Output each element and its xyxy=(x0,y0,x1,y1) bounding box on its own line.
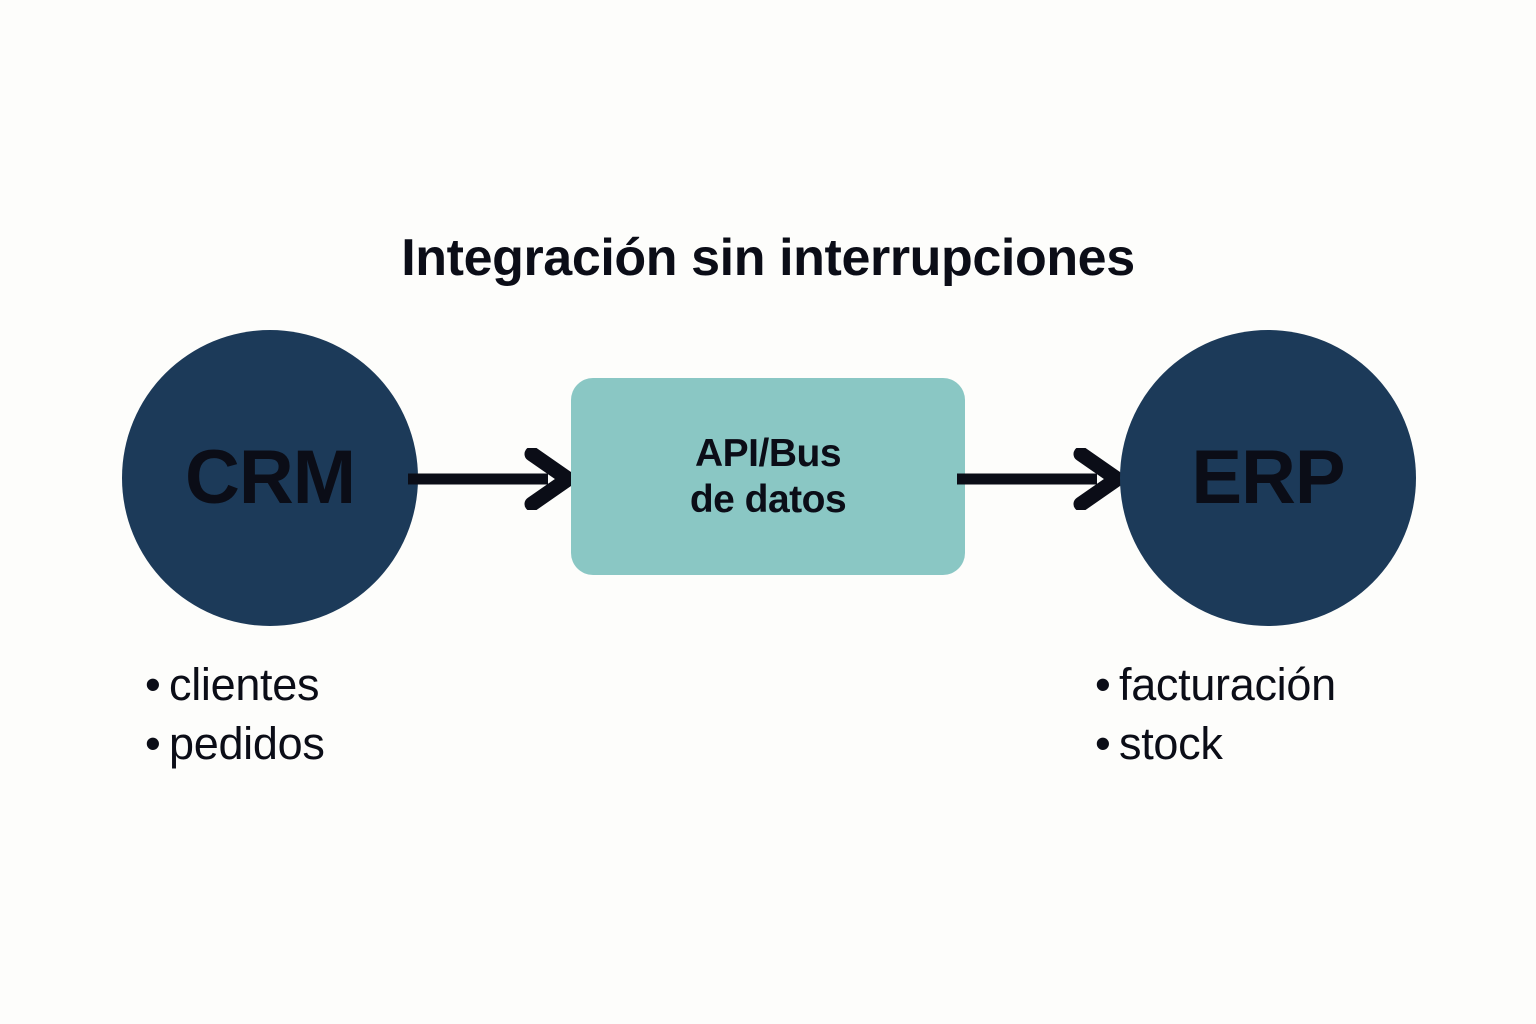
list-item: • stock xyxy=(1095,714,1336,773)
bullet-dot-icon: • xyxy=(145,655,169,714)
erp-bullet-1-label: stock xyxy=(1119,714,1223,773)
node-api-bus-line2: de datos xyxy=(690,477,846,522)
node-crm-label: CRM xyxy=(185,440,355,516)
crm-bullet-0-label: clientes xyxy=(169,655,319,714)
erp-bullet-0-label: facturación xyxy=(1119,655,1336,714)
node-crm[interactable]: CRM xyxy=(122,330,418,626)
bullet-dot-icon: • xyxy=(145,714,169,773)
crm-bullet-list: • clientes • pedidos xyxy=(145,655,325,774)
node-api-bus[interactable]: API/Bus de datos xyxy=(571,378,965,575)
crm-bullet-1-label: pedidos xyxy=(169,714,325,773)
list-item: • pedidos xyxy=(145,714,325,773)
bullet-dot-icon: • xyxy=(1095,655,1119,714)
list-item: • clientes xyxy=(145,655,325,714)
node-erp[interactable]: ERP xyxy=(1120,330,1416,626)
page-title: Integración sin interrupciones xyxy=(0,232,1536,284)
node-erp-label: ERP xyxy=(1191,440,1344,516)
node-api-bus-line1: API/Bus xyxy=(695,431,841,476)
list-item: • facturación xyxy=(1095,655,1336,714)
bullet-dot-icon: • xyxy=(1095,714,1119,773)
diagram-canvas: Integración sin interrupciones CRM API/B… xyxy=(0,0,1536,1024)
arrow-crm-to-api-icon xyxy=(408,448,580,510)
erp-bullet-list: • facturación • stock xyxy=(1095,655,1336,774)
arrow-api-to-erp-icon xyxy=(957,448,1129,510)
